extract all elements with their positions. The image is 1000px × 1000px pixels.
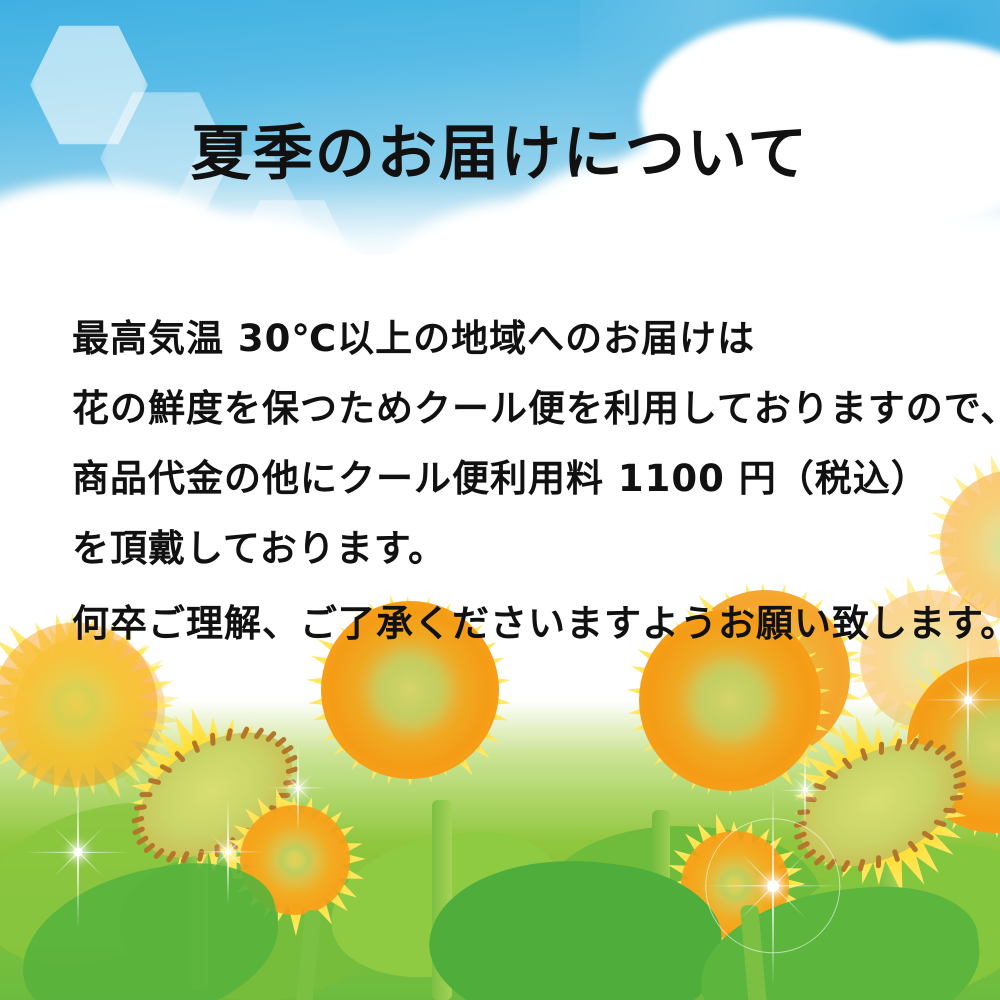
page-title: 夏季のお届けについて bbox=[0, 105, 1000, 192]
notice-line-5: 何卒ご理解、ご了承くださいますようお願い致します。 bbox=[72, 589, 972, 659]
seed-dash bbox=[879, 742, 884, 755]
notice-line-1: 最高気温 30℃以上の地域へのお届けは bbox=[72, 304, 972, 374]
seed-dash bbox=[134, 804, 148, 811]
notice-line-3: 商品代金の他にクール便利用料 1100 円（税込） bbox=[72, 444, 972, 514]
seed-dash bbox=[210, 733, 216, 746]
notice-line-4: を頂戴しております。 bbox=[72, 514, 972, 584]
notice-body: 最高気温 30℃以上の地域へのお届けは 花の鮮度を保つためクール便を利用しており… bbox=[72, 304, 972, 659]
sunflower-core-highlight bbox=[366, 646, 454, 734]
notice-line-2: 花の鮮度を保つためクール便を利用しておりますので、 bbox=[72, 374, 972, 444]
seed-dash bbox=[139, 792, 152, 797]
seed-dash bbox=[943, 808, 956, 814]
seed-dash bbox=[159, 763, 173, 774]
summer-delivery-notice-poster: 夏季のお届けについて 最高気温 30℃以上の地域へのお届けは 花の鮮度を保つため… bbox=[0, 0, 1000, 1000]
seed-dash bbox=[876, 855, 881, 868]
